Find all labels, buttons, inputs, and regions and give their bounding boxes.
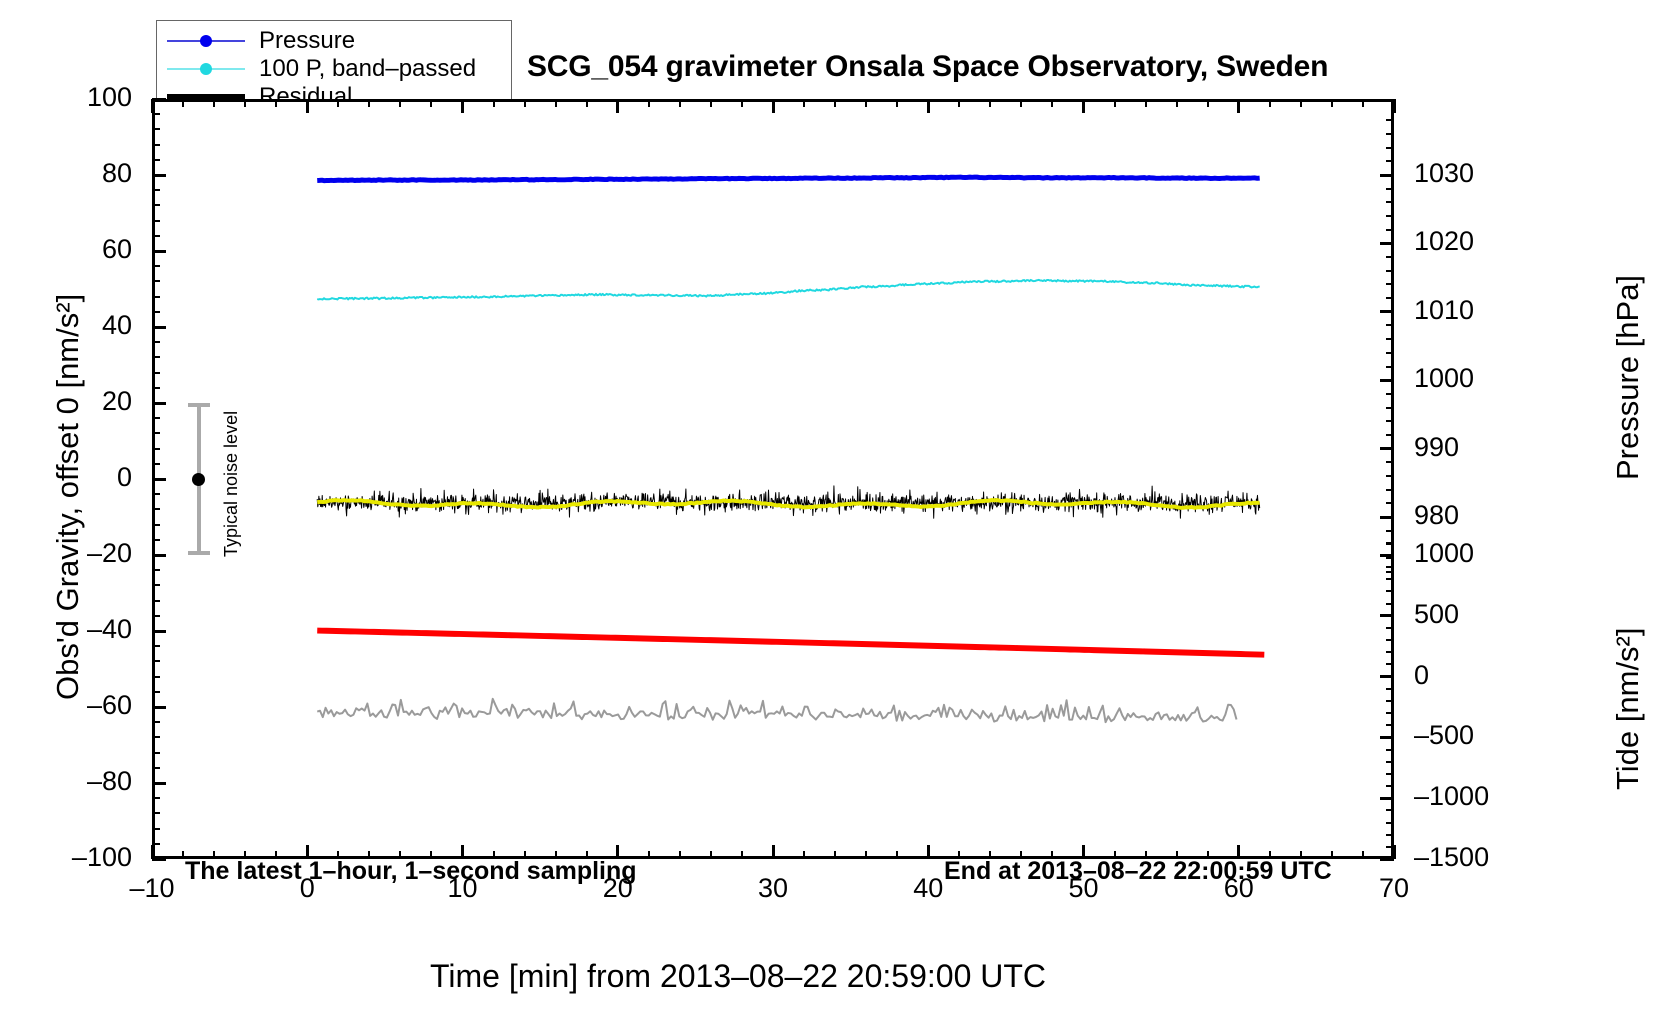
x-axis-tick-major-top: [461, 99, 464, 113]
x-axis-tick-label: 70: [1344, 875, 1444, 902]
pressure-axis-tick-minor: [1386, 366, 1394, 368]
noise-errorbar-point: [192, 473, 205, 486]
x-axis-tick-label: 30: [723, 875, 823, 902]
y-axis-tick-minor: [152, 235, 160, 237]
y-axis-tick-minor: [152, 220, 160, 222]
y-axis-tick-minor: [152, 569, 160, 571]
series-last-10-min: [317, 699, 1236, 722]
pressure-axis-tick-minor: [1386, 338, 1394, 340]
y-axis-tick-minor: [152, 843, 160, 845]
y-axis-tick-label: –40: [4, 616, 132, 643]
pressure-axis-tick-minor: [1386, 557, 1394, 559]
x-axis-tick-minor-top: [1051, 99, 1053, 107]
y-axis-tick-minor: [152, 372, 160, 374]
pressure-axis-tick-minor: [1386, 352, 1394, 354]
legend-item-band-passed[interactable]: 100 P, band–passed: [167, 55, 501, 83]
x-axis-label: Time [min] from 2013–08–22 20:59:00 UTC: [430, 960, 1046, 992]
x-axis-tick-minor: [896, 851, 898, 859]
y-axis-tick-label: –100: [4, 844, 132, 871]
x-axis-tick-minor-top: [741, 99, 743, 107]
y-axis-label-tide: Tide [nm/s²]: [1612, 628, 1643, 791]
pressure-axis-tick-minor: [1386, 283, 1394, 285]
x-axis-tick-minor-top: [989, 99, 991, 107]
y-axis-tick-minor: [152, 797, 160, 799]
y-axis-tick-minor: [152, 296, 160, 298]
tide-axis-tick-minor: [1386, 846, 1394, 848]
y-axis-tick-minor: [152, 539, 160, 541]
tide-axis-tick-minor: [1386, 785, 1394, 787]
y-axis-tick-minor: [152, 417, 160, 419]
x-axis-tick-major-top: [1082, 99, 1085, 113]
x-axis-tick-minor-top: [865, 99, 867, 107]
x-axis-tick-minor-top: [1269, 99, 1271, 107]
legend-label-band-passed: 100 P, band–passed: [259, 57, 476, 81]
pressure-axis-tick-minor: [1386, 188, 1394, 190]
y-axis-tick-label: 20: [4, 388, 132, 415]
pressure-axis-tick-minor: [1386, 324, 1394, 326]
y-axis-tick-minor: [152, 463, 160, 465]
tide-axis-tick-minor: [1386, 822, 1394, 824]
tide-axis-tick-minor: [1386, 542, 1394, 544]
tide-axis-tick-minor: [1386, 627, 1394, 629]
y-axis-tick-minor: [152, 508, 160, 510]
plot-canvas: [155, 102, 1391, 856]
y-axis-tick-label: 60: [4, 236, 132, 263]
legend-item-pressure[interactable]: Pressure: [167, 27, 501, 55]
x-axis-tick-minor-top: [958, 99, 960, 107]
y-axis-tick-minor: [152, 691, 160, 693]
tide-axis-tick-label: 1000: [1414, 540, 1554, 567]
pressure-axis-tick-label: 980: [1414, 502, 1544, 529]
tide-axis-tick-minor: [1386, 700, 1394, 702]
series-theor-tide: [317, 631, 1264, 655]
pressure-axis-tick-minor: [1386, 571, 1394, 573]
y-axis-tick-minor: [152, 828, 160, 830]
x-axis-tick-minor-top: [430, 99, 432, 107]
y-axis-tick-minor: [152, 493, 160, 495]
y-axis-tick-minor: [152, 311, 160, 313]
x-axis-tick-minor-top: [1362, 99, 1364, 107]
y-axis-tick-minor: [152, 752, 160, 754]
x-axis-tick-minor-top: [1300, 99, 1302, 107]
pressure-axis-tick-label: 1020: [1414, 228, 1544, 255]
pressure-axis-tick-minor: [1386, 530, 1394, 532]
y-axis-tick-major: [152, 250, 166, 253]
tide-axis-tick-minor: [1386, 724, 1394, 726]
x-axis-tick-minor-top: [648, 99, 650, 107]
x-axis-tick-major-top: [151, 99, 154, 113]
x-axis-tick-major-top: [1393, 99, 1396, 113]
tide-axis-tick-minor: [1386, 761, 1394, 763]
y-axis-tick-major: [152, 630, 166, 633]
tide-axis-tick-major: [1380, 614, 1394, 617]
tide-axis-tick-minor: [1386, 663, 1394, 665]
y-axis-tick-minor: [152, 660, 160, 662]
tide-axis-tick-minor: [1386, 603, 1394, 605]
y-axis-tick-label: –20: [4, 540, 132, 567]
plot-area: [152, 99, 1394, 859]
tide-axis-tick-minor: [1386, 590, 1394, 592]
tide-axis-tick-minor: [1386, 749, 1394, 751]
tide-axis-tick-label: –1500: [1414, 844, 1554, 871]
pressure-axis-tick-minor: [1386, 407, 1394, 409]
pressure-axis-tick-major: [1380, 516, 1394, 519]
y-axis-tick-major: [152, 478, 166, 481]
tide-axis-tick-minor: [1386, 834, 1394, 836]
y-axis-tick-minor: [152, 204, 160, 206]
x-axis-tick-minor-top: [337, 99, 339, 107]
legend-label-pressure: Pressure: [259, 29, 355, 53]
y-axis-tick-minor: [152, 189, 160, 191]
x-axis-tick-minor: [834, 851, 836, 859]
y-axis-tick-minor: [152, 356, 160, 358]
y-axis-tick-major: [152, 706, 166, 709]
x-axis-tick-minor-top: [803, 99, 805, 107]
x-axis-tick-minor-top: [524, 99, 526, 107]
legend-swatch-pressure: [167, 31, 245, 51]
tide-axis-tick-minor: [1386, 651, 1394, 653]
x-axis-tick-minor-top: [213, 99, 215, 107]
tide-axis-tick-minor: [1386, 809, 1394, 811]
pressure-axis-tick-minor: [1386, 297, 1394, 299]
x-axis-tick-minor-top: [1176, 99, 1178, 107]
pressure-axis-tick-minor: [1386, 489, 1394, 491]
tide-axis-tick-major: [1380, 554, 1394, 557]
tide-axis-tick-major: [1380, 675, 1394, 678]
y-axis-label-pressure: Pressure [hPa]: [1612, 275, 1643, 480]
y-axis-tick-minor: [152, 721, 160, 723]
tide-axis-tick-label: –1000: [1414, 783, 1554, 810]
y-axis-tick-major: [152, 402, 166, 405]
pressure-axis-tick-minor: [1386, 461, 1394, 463]
tide-axis-tick-minor: [1386, 773, 1394, 775]
tide-axis-tick-label: 0: [1414, 662, 1554, 689]
noise-errorbar-cap-bottom: [188, 551, 210, 555]
x-axis-tick-minor: [182, 851, 184, 859]
x-axis-tick-minor: [679, 851, 681, 859]
x-axis-tick-minor-top: [710, 99, 712, 107]
x-axis-tick-major-top: [616, 99, 619, 113]
y-axis-tick-label: 80: [4, 160, 132, 187]
pressure-axis-tick-major: [1380, 447, 1394, 450]
pressure-axis-tick-major: [1380, 379, 1394, 382]
x-axis-tick-minor-top: [368, 99, 370, 107]
pressure-axis-tick-minor: [1386, 475, 1394, 477]
y-axis-tick-major: [152, 326, 166, 329]
x-axis-tick-major-top: [927, 99, 930, 113]
pressure-axis-tick-minor: [1386, 420, 1394, 422]
x-axis-tick-minor: [1362, 851, 1364, 859]
legend-swatch-band-passed: [167, 59, 245, 79]
x-axis-tick-minor: [741, 851, 743, 859]
x-axis-tick-minor-top: [1114, 99, 1116, 107]
pressure-axis-tick-minor: [1386, 215, 1394, 217]
y-axis-tick-minor: [152, 128, 160, 130]
y-axis-tick-label: –60: [4, 692, 132, 719]
pressure-axis-tick-minor: [1386, 133, 1394, 135]
tide-axis-tick-label: 500: [1414, 601, 1554, 628]
end-time-note: End at 2013–08–22 22:00:59 UTC: [944, 857, 1332, 886]
x-axis-tick-minor-top: [182, 99, 184, 107]
y-axis-tick-minor: [152, 676, 160, 678]
x-axis-tick-minor-top: [679, 99, 681, 107]
x-axis-tick-minor-top: [1207, 99, 1209, 107]
sampling-note: The latest 1–hour, 1–second sampling: [185, 857, 637, 886]
y-axis-tick-label: 100: [4, 84, 132, 111]
tide-axis-tick-minor: [1386, 578, 1394, 580]
pressure-axis-tick-major: [1380, 310, 1394, 313]
y-axis-tick-major: [152, 858, 166, 861]
y-axis-tick-major: [152, 174, 166, 177]
tide-axis-tick-label: –500: [1414, 722, 1554, 749]
y-axis-tick-minor: [152, 767, 160, 769]
y-axis-tick-major: [152, 782, 166, 785]
pressure-axis-tick-minor: [1386, 201, 1394, 203]
series-band-passed: [317, 280, 1259, 300]
x-axis-tick-major: [772, 845, 775, 859]
x-axis-tick-minor-top: [1331, 99, 1333, 107]
x-axis-tick-major: [927, 845, 930, 859]
x-axis-tick-minor: [648, 851, 650, 859]
y-axis-tick-major: [152, 98, 166, 101]
y-axis-tick-label: 40: [4, 312, 132, 339]
pressure-axis-tick-label: 1000: [1414, 365, 1544, 392]
pressure-axis-tick-minor: [1386, 434, 1394, 436]
pressure-axis-tick-label: 990: [1414, 434, 1544, 461]
tide-axis-tick-minor: [1386, 688, 1394, 690]
x-axis-tick-minor-top: [555, 99, 557, 107]
pressure-axis-tick-minor: [1386, 270, 1394, 272]
pressure-axis-tick-minor: [1386, 502, 1394, 504]
pressure-axis-tick-minor: [1386, 147, 1394, 149]
y-axis-tick-minor: [152, 645, 160, 647]
y-axis-tick-minor: [152, 341, 160, 343]
x-axis-tick-minor: [803, 851, 805, 859]
y-axis-tick-minor: [152, 280, 160, 282]
y-axis-tick-label: 0: [4, 464, 132, 491]
y-axis-tick-minor: [152, 448, 160, 450]
x-axis-tick-minor-top: [399, 99, 401, 107]
tide-axis-tick-major: [1380, 797, 1394, 800]
y-axis-tick-minor: [152, 113, 160, 115]
y-axis-tick-major: [152, 554, 166, 557]
pressure-axis-tick-major: [1380, 242, 1394, 245]
x-axis-tick-minor-top: [244, 99, 246, 107]
x-axis-tick-minor: [710, 851, 712, 859]
x-axis-tick-major-top: [306, 99, 309, 113]
noise-level-label: Typical noise level: [221, 411, 242, 557]
y-axis-tick-minor: [152, 600, 160, 602]
x-axis-tick-minor-top: [1145, 99, 1147, 107]
pressure-axis-tick-minor: [1386, 256, 1394, 258]
x-axis-tick-minor-top: [493, 99, 495, 107]
pressure-axis-tick-label: 1010: [1414, 297, 1544, 324]
chart-page: SCG_054 gravimeter Onsala Space Observat…: [0, 0, 1660, 1020]
tide-axis-tick-minor: [1386, 639, 1394, 641]
tide-axis-tick-major: [1380, 736, 1394, 739]
x-axis-tick-major-top: [772, 99, 775, 113]
tide-axis-tick-minor: [1386, 566, 1394, 568]
y-axis-tick-minor: [152, 159, 160, 161]
x-axis-tick-minor-top: [275, 99, 277, 107]
pressure-axis-tick-major: [1380, 174, 1394, 177]
y-axis-tick-minor: [152, 736, 160, 738]
y-axis-tick-minor: [152, 524, 160, 526]
series-pressure: [317, 177, 1259, 181]
y-axis-tick-minor: [152, 144, 160, 146]
y-axis-tick-minor: [152, 387, 160, 389]
pressure-axis-tick-minor: [1386, 393, 1394, 395]
pressure-axis-tick-minor: [1386, 229, 1394, 231]
pressure-axis-tick-label: 1030: [1414, 160, 1544, 187]
tide-axis-tick-major: [1380, 858, 1394, 861]
pressure-axis-tick-minor: [1386, 160, 1394, 162]
x-axis-tick-minor-top: [1020, 99, 1022, 107]
y-axis-tick-minor: [152, 812, 160, 814]
chart-title: SCG_054 gravimeter Onsala Space Observat…: [527, 50, 1328, 84]
x-axis-tick-minor-top: [586, 99, 588, 107]
y-axis-tick-minor: [152, 615, 160, 617]
x-axis-tick-minor: [865, 851, 867, 859]
x-axis-tick-minor-top: [896, 99, 898, 107]
y-axis-tick-minor: [152, 584, 160, 586]
y-axis-tick-minor: [152, 265, 160, 267]
tide-axis-tick-minor: [1386, 712, 1394, 714]
pressure-axis-tick-minor: [1386, 119, 1394, 121]
y-axis-tick-minor: [152, 432, 160, 434]
y-axis-tick-label: –80: [4, 768, 132, 795]
x-axis-tick-major-top: [1237, 99, 1240, 113]
x-axis-tick-minor-top: [834, 99, 836, 107]
